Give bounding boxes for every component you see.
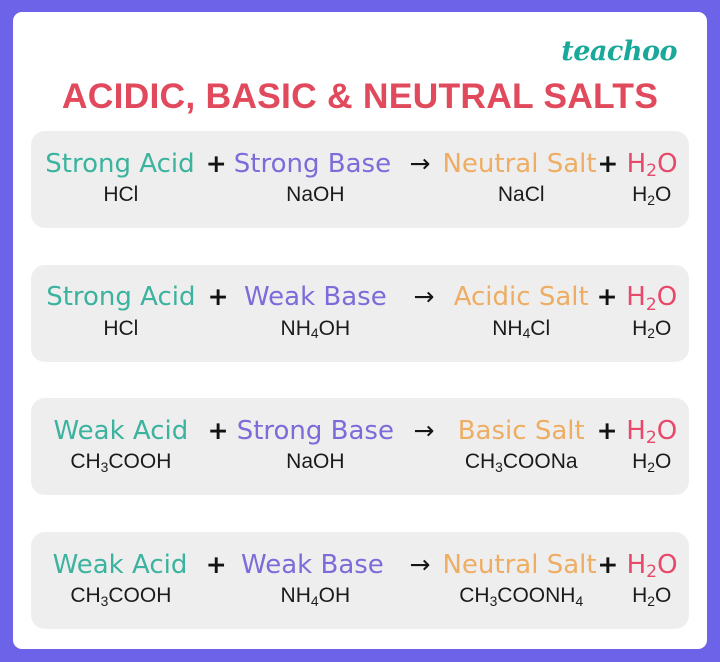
acid-formula-tail: COOH xyxy=(108,450,171,473)
reaction-row: Strong Acid + Weak Base → Acidic Salt + … xyxy=(31,265,689,362)
water-formula-h: H xyxy=(632,183,647,206)
base-formula: NaOH xyxy=(229,183,401,206)
acid-formula-tail: COOH xyxy=(108,584,171,607)
reaction-word-line: Weak Acid + Strong Base → Basic Salt + H… xyxy=(35,418,685,445)
base-type-label: Strong Base xyxy=(229,418,401,445)
base-formula-head: NH xyxy=(281,584,311,607)
purple-border-frame: teachoo ACIDIC, BASIC & NEUTRAL SALTS St… xyxy=(0,0,720,662)
acid-formula: HCl xyxy=(35,317,207,340)
reaction-word-line: Strong Acid + Weak Base → Acidic Salt + … xyxy=(35,284,685,311)
water-formula-h: H xyxy=(632,584,647,607)
reaction-row: Strong Acid + Strong Base → Neutral Salt… xyxy=(31,131,689,228)
acid-type-label: Weak Acid xyxy=(35,418,207,445)
base-formula-head: NH xyxy=(281,317,311,340)
water-label-sub: 2 xyxy=(646,295,657,315)
water-formula-h: H xyxy=(632,450,647,473)
base-formula: NH4OH xyxy=(229,584,401,607)
reaction-row: Weak Acid + Strong Base → Basic Salt + H… xyxy=(31,398,689,495)
water-label: H2O xyxy=(618,284,685,311)
infographic-card: teachoo ACIDIC, BASIC & NEUTRAL SALTS St… xyxy=(13,12,707,649)
reaction-formula-line: HCl NH4OH NH4Cl H2O xyxy=(35,317,685,340)
acid-formula-head: CH xyxy=(70,584,100,607)
water-formula-sub: 2 xyxy=(647,192,655,208)
water-formula-o: O xyxy=(655,584,671,607)
base-formula-sub: 4 xyxy=(311,325,319,341)
salt-formula-tail: COONa xyxy=(503,450,578,473)
base-formula: NaOH xyxy=(229,450,401,473)
salt-formula-tail: Cl xyxy=(530,317,550,340)
acid-formula: CH3COOH xyxy=(35,584,207,607)
plus-sign-1: + xyxy=(207,284,230,310)
base-formula: NH4OH xyxy=(229,317,401,340)
plus-sign-2: + xyxy=(597,151,620,177)
plus-sign-1: + xyxy=(205,552,228,578)
salt-formula-sub: 3 xyxy=(495,459,503,475)
water-label-sub: 2 xyxy=(646,161,657,181)
water-label-sub: 2 xyxy=(646,428,657,448)
water-formula-o: O xyxy=(655,450,671,473)
salt-formula-head: CH xyxy=(465,450,495,473)
acid-formula-head: CH xyxy=(70,450,100,473)
base-formula-tail: OH xyxy=(319,584,351,607)
water-formula-h: H xyxy=(632,317,647,340)
salt-formula-head: NH xyxy=(492,317,522,340)
salt-formula-sub2: 4 xyxy=(575,593,583,609)
base-formula-sub: 4 xyxy=(311,593,319,609)
reaction-word-line: Weak Acid + Weak Base → Neutral Salt + H… xyxy=(35,552,685,579)
plus-sign-2: + xyxy=(597,552,620,578)
base-type-label: Weak Base xyxy=(227,552,397,579)
plus-sign-2: + xyxy=(596,418,619,444)
salt-type-label: Basic Salt xyxy=(447,418,596,445)
acid-formula-sub: 3 xyxy=(101,593,109,609)
plus-sign-1: + xyxy=(207,418,230,444)
salt-formula-head: CH xyxy=(459,584,489,607)
water-formula-o: O xyxy=(655,183,671,206)
salt-type-label: Neutral Salt xyxy=(442,552,596,579)
reaction-arrow-icon: → xyxy=(401,418,447,444)
salt-formula-sub: 3 xyxy=(490,593,498,609)
water-label: H2O xyxy=(618,418,685,445)
water-formula: H2O xyxy=(618,183,685,206)
salt-type-label: Acidic Salt xyxy=(447,284,596,311)
reaction-list: Strong Acid + Strong Base → Neutral Salt… xyxy=(31,123,689,635)
salt-formula: NaCl xyxy=(447,183,596,206)
reaction-arrow-icon: → xyxy=(397,552,442,578)
base-type-label: Weak Base xyxy=(229,284,401,311)
acid-formula-sub: 3 xyxy=(101,459,109,475)
water-formula: H2O xyxy=(618,317,685,340)
teachoo-logo: teachoo xyxy=(561,36,677,67)
acid-type-label: Strong Acid xyxy=(35,151,205,178)
water-label: H2O xyxy=(619,151,685,178)
salt-formula: CH3COONH4 xyxy=(447,584,596,607)
page-title: ACIDIC, BASIC & NEUTRAL SALTS xyxy=(31,76,689,117)
brand-row: teachoo xyxy=(31,28,689,74)
water-formula-sub: 2 xyxy=(647,325,655,341)
salt-type-label: Neutral Salt xyxy=(442,151,596,178)
reaction-arrow-icon: → xyxy=(401,284,447,310)
water-formula: H2O xyxy=(618,450,685,473)
salt-formula-tail: COONH xyxy=(497,584,575,607)
acid-type-label: Strong Acid xyxy=(35,284,207,311)
water-label-sub: 2 xyxy=(646,562,657,582)
reaction-row: Weak Acid + Weak Base → Neutral Salt + H… xyxy=(31,532,689,629)
salt-formula: NH4Cl xyxy=(447,317,596,340)
reaction-formula-line: HCl NaOH NaCl H2O xyxy=(35,183,685,206)
water-formula-sub: 2 xyxy=(647,459,655,475)
salt-formula: CH3COONa xyxy=(447,450,596,473)
water-formula-sub: 2 xyxy=(647,593,655,609)
plus-sign-1: + xyxy=(205,151,228,177)
salt-formula-sub: 4 xyxy=(523,325,531,341)
reaction-word-line: Strong Acid + Strong Base → Neutral Salt… xyxy=(35,151,685,178)
water-label: H2O xyxy=(619,552,685,579)
reaction-formula-line: CH3COOH NaOH CH3COONa H2O xyxy=(35,450,685,473)
reaction-arrow-icon: → xyxy=(397,151,442,177)
acid-formula: CH3COOH xyxy=(35,450,207,473)
acid-formula: HCl xyxy=(35,183,207,206)
base-formula-tail: OH xyxy=(319,317,351,340)
acid-type-label: Weak Acid xyxy=(35,552,205,579)
water-formula: H2O xyxy=(618,584,685,607)
plus-sign-2: + xyxy=(596,284,619,310)
water-formula-o: O xyxy=(655,317,671,340)
base-type-label: Strong Base xyxy=(227,151,397,178)
reaction-formula-line: CH3COOH NH4OH CH3COONH4 H2O xyxy=(35,584,685,607)
